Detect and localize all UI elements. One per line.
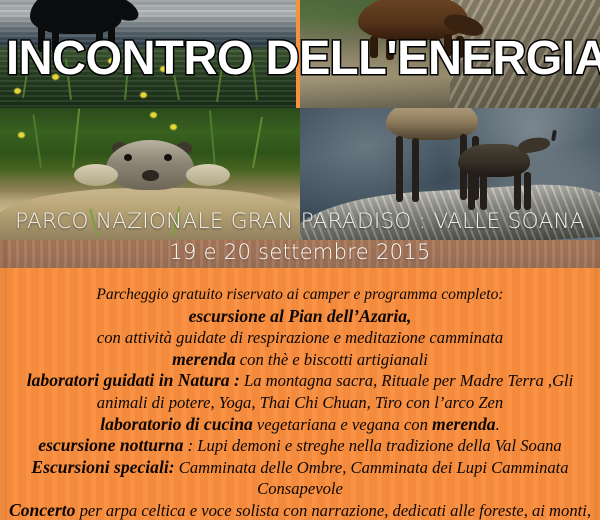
program-line-4: laboratori guidati in Natura : La montag… (8, 370, 592, 413)
chamois-leg (412, 138, 419, 202)
program-line-6-plain: : Lupi demoni e streghe nella tradizione… (183, 436, 561, 455)
event-poster: INCONTRO DELL'ENERGIA POSITIVA PARCO NAZ… (0, 0, 600, 520)
program-line-5-plain: vegetariana e vegana con (253, 415, 432, 434)
program-line-7-bold: Escursioni speciali: (31, 457, 174, 477)
program-line-2-plain: con attività guidate di respirazione e m… (97, 328, 503, 347)
program-line-5-bold2: merenda (432, 414, 496, 434)
grass-blade (209, 110, 216, 168)
grass-blade (32, 114, 41, 168)
marmot-eye (124, 154, 132, 161)
yellow-flower (18, 132, 25, 138)
grass-blade (252, 117, 263, 169)
yellow-flower (150, 112, 157, 118)
yellow-flower (140, 92, 147, 98)
program-line-3: merenda con thè e biscotti artigianali (8, 349, 592, 371)
program-line-5-bold: laboratorio di cucina (100, 414, 253, 434)
right-edge-shade (594, 240, 600, 520)
program-line-4-bold: laboratori guidati in Natura : (27, 370, 240, 390)
program-text: Parcheggio gratuito riservato ai camper … (8, 284, 592, 520)
grass-blade (72, 108, 80, 168)
chamois-kid-leg (514, 170, 521, 210)
chamois-leg (396, 136, 403, 202)
marmot-head (106, 140, 194, 190)
marmot-paw (186, 164, 230, 186)
program-line-3-plain: con thè e biscotti artigianali (236, 350, 428, 369)
program-line-8-bold: Concerto (9, 500, 75, 520)
program-line-5: laboratorio di cucina vegetariana e vega… (8, 414, 592, 436)
chamois-kid-leg (524, 172, 531, 210)
program-line-3-bold: merenda (172, 349, 236, 369)
program-line-6: escursione notturna : Lupi demoni e stre… (8, 435, 592, 457)
left-edge-shade (0, 240, 7, 520)
program-line-7: Escursioni speciali: Camminata delle Omb… (8, 457, 592, 500)
poster-subtitle: PARCO NAZIONALE GRAN PARADISO : VALLE SO… (0, 208, 600, 236)
program-line-2: con attività guidate di respirazione e m… (8, 327, 592, 349)
program-line-8-plain: per arpa celtica e voce solista con narr… (75, 501, 591, 520)
yellow-flower (14, 88, 21, 94)
program-line-1-bold: escursione al Pian dell’Azaria, (189, 306, 412, 326)
program-intro: Parcheggio gratuito riservato ai camper … (8, 284, 592, 306)
program-line-8: Concerto per arpa celtica e voce solista… (8, 500, 592, 520)
program-line-6-bold: escursione notturna (38, 435, 183, 455)
program-line-5-tail: . (496, 415, 500, 434)
marmot-paw (74, 164, 118, 186)
marmot-eye (164, 154, 172, 161)
marmot-nose (142, 170, 159, 181)
chamois-kid-horn (551, 130, 557, 142)
poster-title: INCONTRO DELL'ENERGIA POSITIVA (6, 30, 594, 88)
poster-date: 19 e 20 settembre 2015 (0, 238, 600, 267)
program-line-1: escursione al Pian dell’Azaria, (8, 306, 592, 328)
chamois-kid-leg (468, 172, 475, 210)
yellow-flower (170, 124, 177, 130)
chamois-kid-leg (480, 174, 487, 210)
program-line-7-plain: Camminata delle Ombre, Camminata dei Lup… (175, 458, 569, 499)
